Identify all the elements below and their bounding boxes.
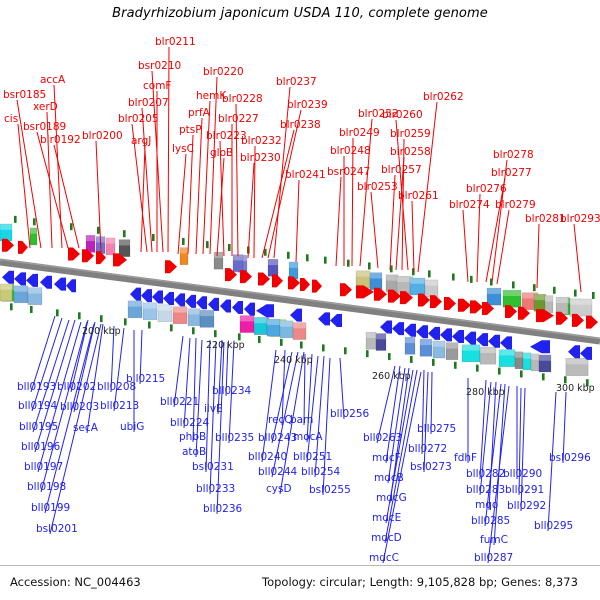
label-leader-line (262, 350, 276, 462)
gene-arrow[interactable] (272, 274, 283, 287)
gene-arrow[interactable] (464, 332, 476, 345)
ruler-tick-label: 200 kbp (82, 326, 121, 337)
gene-label[interactable]: blr0261 (398, 190, 439, 202)
strand-tick (228, 244, 231, 251)
strand-tick (344, 347, 347, 354)
gene-label[interactable]: lysC (172, 143, 194, 155)
feature-box-gloss (143, 303, 157, 309)
gene-label[interactable]: blr0200 (82, 130, 123, 142)
gene-label[interactable]: blr0293 (560, 213, 600, 225)
gene-label[interactable]: bll0285 (471, 515, 510, 527)
gene-arrow[interactable] (256, 304, 274, 317)
gene-arrow[interactable] (500, 336, 512, 349)
strand-tick (533, 284, 536, 291)
gene-label[interactable]: bll0235 (215, 432, 254, 444)
gene-label[interactable]: blr0249 (339, 127, 380, 139)
gene-label[interactable]: gloB (210, 147, 233, 159)
feature-box-gloss (405, 337, 415, 343)
strand-tick (70, 223, 73, 230)
gene-label[interactable]: xerD (33, 101, 58, 113)
label-leader-line (96, 141, 101, 252)
label-leader-line (210, 77, 217, 254)
gene-label[interactable]: bll0233 (196, 483, 235, 495)
feature-box-gloss (397, 276, 410, 282)
gene-label[interactable]: bll0234 (212, 385, 252, 397)
gene-label[interactable]: phbB (179, 431, 206, 443)
strand-tick (368, 262, 371, 269)
strand-tick (182, 238, 185, 245)
gene-label[interactable]: bll0193 (17, 381, 56, 393)
gene-label[interactable]: bll0243 (258, 432, 297, 444)
genome-map-viewer: Bradyrhizobium japonicum USDA 110, compl… (0, 0, 600, 600)
label-leader-line (463, 210, 468, 282)
feature-box-gloss (158, 305, 172, 311)
gene-label[interactable]: bsl0273 (410, 461, 452, 473)
gene-label[interactable]: blr0274 (449, 199, 490, 211)
strand-tick (470, 276, 473, 283)
label-leader-line (537, 224, 539, 288)
gene-label[interactable]: cis (4, 113, 18, 125)
strand-tick (432, 359, 435, 366)
gene-label[interactable]: blr0227 (218, 113, 259, 125)
gene-label[interactable]: bsr0189 (23, 121, 66, 133)
strand-tick (574, 290, 577, 297)
strand-tick (206, 241, 209, 248)
gene-label[interactable]: bsl0201 (36, 523, 78, 535)
gene-label[interactable]: blr0238 (280, 119, 321, 131)
gene-arrow[interactable] (208, 298, 219, 311)
label-leader-line (268, 110, 301, 258)
gene-label[interactable]: blr0257 (381, 164, 422, 176)
strand-tick (192, 327, 195, 334)
feature-box-gloss (267, 319, 280, 325)
gene-label[interactable]: bll0215 (126, 373, 165, 385)
gene-label[interactable]: bsl0296 (549, 452, 591, 464)
strand-tick (542, 373, 545, 380)
gene-arrow[interactable] (340, 283, 352, 296)
gene-label[interactable]: mdcG (376, 492, 407, 504)
strand-tick (123, 230, 126, 237)
gene-label[interactable]: blr0232 (241, 135, 282, 147)
gene-label[interactable]: bsr0247 (327, 166, 370, 178)
gene-arrow[interactable] (165, 260, 177, 273)
gene-arrow[interactable] (68, 247, 80, 260)
gene-arrow[interactable] (244, 303, 255, 316)
label-leader-line (141, 146, 145, 252)
strand-tick (324, 257, 327, 264)
feature-box-gloss (293, 323, 306, 329)
label-leader-line (424, 372, 428, 472)
strand-tick (148, 321, 151, 328)
feature-box-gloss (280, 321, 293, 327)
gene-label[interactable]: blr0276 (466, 183, 507, 195)
gene-label[interactable]: blr0262 (423, 91, 464, 103)
gene-arrow[interactable] (196, 296, 207, 309)
gene-arrow[interactable] (318, 312, 330, 325)
strand-tick (30, 306, 33, 313)
strand-tick (100, 315, 103, 322)
gene-label[interactable]: bsr0185 (3, 89, 46, 101)
label-leader-line (37, 132, 68, 248)
gene-label[interactable]: bll0254 (301, 466, 341, 478)
strand-tick (347, 260, 350, 267)
ruler-tick-label: 220 kbp (206, 340, 245, 351)
strand-tick (454, 362, 457, 369)
feature-box-gloss (531, 354, 539, 360)
feature-box-gloss (119, 240, 130, 246)
gene-label[interactable]: bll0240 (248, 451, 287, 463)
gene-label[interactable]: blr0220 (203, 66, 244, 78)
gene-label[interactable]: bll0195 (19, 421, 58, 433)
gene-label[interactable]: bll0196 (21, 441, 61, 453)
strand-tick (322, 344, 325, 351)
gene-arrow[interactable] (404, 324, 416, 337)
ruler-tick-label: 260 kbp (372, 371, 411, 382)
feature-box-gloss (503, 290, 521, 296)
gene-arrow[interactable] (428, 327, 440, 340)
feature-box-gloss (254, 317, 267, 323)
gene-label[interactable]: bll0263 (363, 432, 402, 444)
gene-label[interactable]: blr0241 (285, 169, 326, 181)
gene-label[interactable]: comF (143, 80, 171, 92)
gene-arrow[interactable] (141, 289, 152, 302)
gene-label[interactable]: blr0237 (276, 76, 317, 88)
strand-tick (170, 324, 173, 331)
gene-arrow[interactable] (458, 299, 471, 312)
gene-arrow[interactable] (163, 292, 174, 305)
strand-tick (410, 356, 413, 363)
gene-label[interactable]: bll0282 (466, 468, 505, 480)
feature-box-gloss (240, 316, 254, 322)
feature-box-gloss (0, 284, 12, 290)
gene-arrow[interactable] (586, 316, 598, 329)
footer-bar: Accession: NC_004463 Topology: circular;… (0, 565, 600, 600)
gene-label[interactable]: blr0230 (240, 152, 281, 164)
gene-arrow[interactable] (452, 330, 464, 343)
gene-label[interactable]: mqo (475, 499, 498, 511)
strand-tick (14, 216, 17, 223)
gene-arrow[interactable] (232, 301, 243, 314)
gene-label[interactable]: mdcB (374, 472, 404, 484)
gene-label[interactable]: bll0244 (258, 466, 298, 478)
feature-box-gloss (446, 343, 458, 349)
label-leader-line (54, 145, 79, 248)
gene-label[interactable]: bsr0210 (138, 60, 181, 72)
gene-label[interactable]: bll0275 (417, 423, 456, 435)
gene-label[interactable]: bll0283 (466, 484, 505, 496)
gene-arrow[interactable] (240, 270, 252, 283)
gene-label[interactable]: secA (73, 422, 99, 434)
label-leader-line (262, 130, 294, 258)
strand-tick (452, 274, 455, 281)
label-leader-line (184, 338, 190, 428)
gene-arrow[interactable] (568, 345, 580, 358)
genome-map-canvas[interactable]: cisbsr0185xerDaccAbsr0189blr0192blr0200a… (0, 0, 600, 600)
gene-label[interactable]: bll0197 (24, 461, 63, 473)
gene-arrow[interactable] (220, 299, 231, 312)
label-leader-line (33, 320, 69, 432)
feature-box-gloss (433, 341, 445, 347)
gene-arrow[interactable] (580, 347, 592, 360)
gene-arrow[interactable] (330, 314, 342, 327)
feature-box-gloss (539, 355, 551, 361)
gene-label[interactable]: mdcC (369, 552, 399, 564)
gene-label[interactable]: bll0199 (31, 502, 70, 514)
gene-arrow[interactable] (2, 271, 14, 284)
feature-box-gloss (180, 248, 188, 254)
gene-label[interactable]: fumC (480, 534, 508, 546)
gene-arrow[interactable] (54, 278, 66, 291)
feature-box-gloss (545, 296, 553, 302)
gene-arrow[interactable] (185, 295, 196, 308)
gene-label[interactable]: bsl0255 (309, 484, 351, 496)
gene-label[interactable]: bll0221 (160, 396, 199, 408)
feature-box-gloss (480, 347, 496, 353)
gene-arrow[interactable] (152, 291, 163, 304)
strand-tick (152, 234, 155, 241)
strand-tick (306, 254, 309, 261)
gene-arrow[interactable] (476, 333, 488, 346)
gene-arrow[interactable] (18, 241, 28, 254)
gene-label[interactable]: bll0287 (474, 552, 513, 564)
label-leader-line (196, 118, 202, 254)
gene-label[interactable]: blr0258 (390, 146, 431, 158)
gene-label[interactable]: recQ (268, 414, 293, 426)
gene-label[interactable]: cysD (266, 483, 292, 495)
topology-label: Topology: circular; Length: 9,105,828 bp… (262, 575, 578, 589)
gene-label[interactable]: prfA (188, 107, 211, 119)
label-leader-line (168, 47, 169, 252)
feature-box-gloss (487, 288, 501, 294)
label-leader-line (336, 177, 341, 266)
ruler-tick-label: 300 kbp (556, 383, 595, 394)
ruler-tick-label: 280 kbp (466, 387, 505, 398)
gene-arrow[interactable] (66, 279, 76, 292)
gene-arrow[interactable] (416, 325, 428, 338)
gene-label[interactable]: blr0253 (357, 181, 398, 193)
gene-label[interactable]: bll0194 (18, 400, 58, 412)
gene-arrow[interactable] (290, 309, 302, 322)
gene-label[interactable]: bll0272 (408, 443, 447, 455)
feature-box-gloss (566, 359, 588, 365)
label-leader-line (371, 192, 378, 268)
strand-tick (512, 281, 515, 288)
feature-box-gloss (370, 273, 382, 279)
feature-box-gloss (30, 228, 37, 234)
feature-box-gloss (356, 271, 370, 277)
feature-box-gloss (386, 275, 398, 281)
gene-arrow[interactable] (312, 280, 322, 293)
gene-label[interactable]: bll0290 (503, 468, 542, 480)
feature-box-gloss (366, 332, 376, 338)
forward-gene-labels[interactable]: cisbsr0185xerDaccAbsr0189blr0192blr0200a… (3, 36, 600, 225)
label-leader-line (114, 328, 124, 411)
feature-box-gloss (556, 297, 568, 303)
gene-label[interactable]: blr0278 (493, 149, 534, 161)
strand-tick (280, 339, 283, 346)
accession-label: Accession: NC_004463 (10, 575, 141, 589)
strand-tick (498, 368, 501, 375)
strand-tick (33, 218, 36, 225)
feature-box-gloss (173, 307, 187, 313)
gene-label[interactable]: blr0259 (390, 128, 431, 140)
feature-box-gloss (14, 286, 28, 292)
feature-box-gloss (462, 345, 480, 351)
gene-arrow[interactable] (470, 300, 483, 313)
gene-label[interactable]: blr0228 (222, 93, 263, 105)
strand-tick (428, 270, 431, 277)
gene-arrow[interactable] (174, 293, 185, 306)
label-leader-line (203, 101, 210, 254)
gene-label[interactable]: blr0211 (155, 36, 196, 48)
strand-tick (287, 252, 290, 259)
label-leader-line (497, 210, 509, 284)
gene-label[interactable]: accA (40, 74, 66, 86)
strand-tick (78, 312, 81, 319)
label-leader-line (574, 224, 581, 292)
gene-label[interactable]: bll0198 (27, 481, 66, 493)
feature-box-gloss (534, 294, 546, 300)
gene-label[interactable]: blr0207 (128, 97, 169, 109)
gene-label[interactable]: bll0224 (170, 417, 210, 429)
gene-label[interactable]: argJ (131, 135, 151, 147)
gene-label[interactable]: blr0248 (330, 145, 371, 157)
gene-label[interactable]: bll0203 (60, 401, 99, 413)
gene-label[interactable]: mocA (293, 431, 323, 443)
strand-tick (300, 342, 303, 349)
feature-box-gloss (523, 353, 531, 359)
gene-label[interactable]: blr0279 (495, 199, 536, 211)
gene-label[interactable]: ilvE (204, 403, 223, 415)
gene-label[interactable]: bll0256 (330, 408, 370, 420)
feature-box-gloss (200, 310, 214, 316)
strand-tick (214, 330, 217, 337)
gene-label[interactable]: bsl0231 (192, 461, 234, 473)
gene-arrow[interactable] (392, 322, 404, 335)
gene-label[interactable]: mdcD (371, 532, 402, 544)
gene-arrow[interactable] (40, 276, 52, 289)
gene-label[interactable]: bll0251 (293, 451, 332, 463)
feature-box-gloss (570, 299, 592, 305)
strand-tick (592, 292, 595, 299)
gene-arrow[interactable] (444, 297, 456, 310)
feature-box-gloss (128, 301, 142, 307)
feature-box-gloss (420, 339, 432, 345)
gene-label[interactable]: blr0239 (287, 99, 328, 111)
gene-label[interactable]: ptsP (179, 124, 202, 136)
feature-box-gloss (376, 334, 386, 340)
label-leader-line (422, 370, 424, 454)
strand-tick (366, 350, 369, 357)
feature-box-gloss (425, 280, 438, 286)
gene-arrow[interactable] (488, 335, 500, 348)
gene-arrow[interactable] (130, 288, 141, 301)
feature-box-gloss (515, 352, 523, 358)
gene-label[interactable]: fdhF (454, 452, 477, 464)
strand-tick (124, 318, 127, 325)
gene-label[interactable]: blr0192 (40, 134, 81, 146)
gene-arrow[interactable] (530, 340, 550, 353)
strand-tick (97, 227, 100, 234)
gene-label[interactable]: blr0277 (491, 167, 532, 179)
gene-arrow[interactable] (300, 278, 310, 291)
strand-tick (553, 287, 556, 294)
gene-arrow[interactable] (440, 328, 452, 341)
gene-label[interactable]: blr0205 (118, 113, 159, 125)
strand-tick (258, 336, 261, 343)
feature-box-gloss (289, 262, 298, 268)
label-leader-line (32, 318, 62, 411)
gene-label[interactable]: mdcE (372, 512, 401, 524)
gene-arrow[interactable] (14, 272, 26, 285)
gene-label[interactable]: bll0292 (507, 500, 546, 512)
gene-arrow[interactable] (430, 295, 442, 308)
label-leader-line (307, 354, 312, 442)
gene-label[interactable]: atoB (182, 446, 206, 458)
gene-arrow[interactable] (380, 321, 392, 334)
label-leader-line (236, 104, 238, 256)
label-leader-line (248, 163, 254, 258)
label-leader-line (412, 201, 414, 272)
gene-label[interactable]: blr0260 (382, 109, 423, 121)
label-leader-line (217, 158, 224, 256)
feature-box-gloss (268, 259, 278, 265)
gene-label[interactable]: bam (290, 414, 313, 426)
feature-box-gloss (410, 278, 425, 284)
gene-label[interactable]: bll0295 (534, 520, 573, 532)
ruler-tick-label: 240 kbp (274, 355, 313, 366)
feature-box-gloss (0, 224, 12, 230)
gene-label[interactable]: bll0202 (57, 381, 96, 393)
gene-label[interactable]: bll0291 (505, 484, 544, 496)
feature-box-gloss (188, 309, 200, 315)
strand-tick (476, 365, 479, 372)
feature-box-gloss (28, 288, 42, 294)
gene-arrow[interactable] (26, 274, 38, 287)
gene-label[interactable]: bll0213 (100, 400, 139, 412)
feature-box-gloss (214, 252, 223, 258)
gene-label[interactable]: mdcF (372, 452, 401, 464)
feature-box-gloss (106, 238, 115, 244)
feature-box-gloss (86, 235, 95, 241)
feature-box-gloss (499, 350, 515, 356)
gene-arrow[interactable] (374, 288, 387, 301)
gene-label[interactable]: bll0236 (203, 503, 243, 515)
strand-tick (56, 309, 59, 316)
label-leader-line (352, 138, 353, 266)
strand-tick (388, 353, 391, 360)
strand-tick (10, 303, 13, 310)
label-leader-line (296, 180, 299, 262)
gene-label[interactable]: ubiG (120, 421, 144, 433)
strand-tick (520, 370, 523, 377)
